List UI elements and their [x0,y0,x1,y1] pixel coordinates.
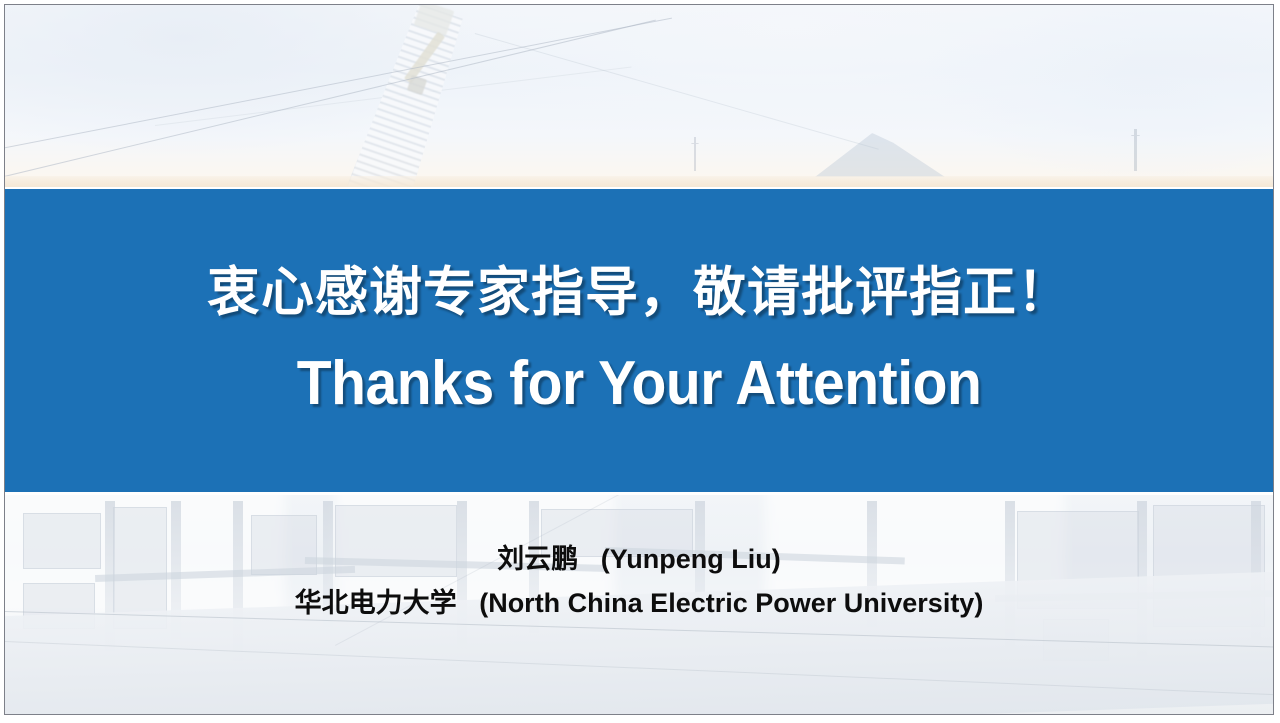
affiliation-chinese: 华北电力大学 [295,588,457,618]
top-banner-image [5,5,1273,187]
author-affiliation: 华北电力大学 (North China Electric Power Unive… [5,589,1273,617]
slide-canvas: 衷心感谢专家指导，敬请批评指正！ Thanks for Your Attenti… [4,4,1274,715]
slide-title-chinese: 衷心感谢专家指导，敬请批评指正！ [207,266,1071,319]
horizon-ground-strip [5,176,1273,187]
title-banner: 衷心感谢专家指导，敬请批评指正！ Thanks for Your Attenti… [5,189,1273,492]
author-name: 刘云鹏 (Yunpeng Liu) [5,545,1273,573]
author-name-english: (Yunpeng Liu) [601,544,781,574]
affiliation-english: (North China Electric Power University) [479,588,983,618]
author-name-chinese: 刘云鹏 [497,544,578,574]
sky-gradient [5,5,1273,187]
slide-title-english: Thanks for Your Attention [297,353,982,415]
author-block: 刘云鹏 (Yunpeng Liu) 华北电力大学 (North China El… [5,545,1273,618]
